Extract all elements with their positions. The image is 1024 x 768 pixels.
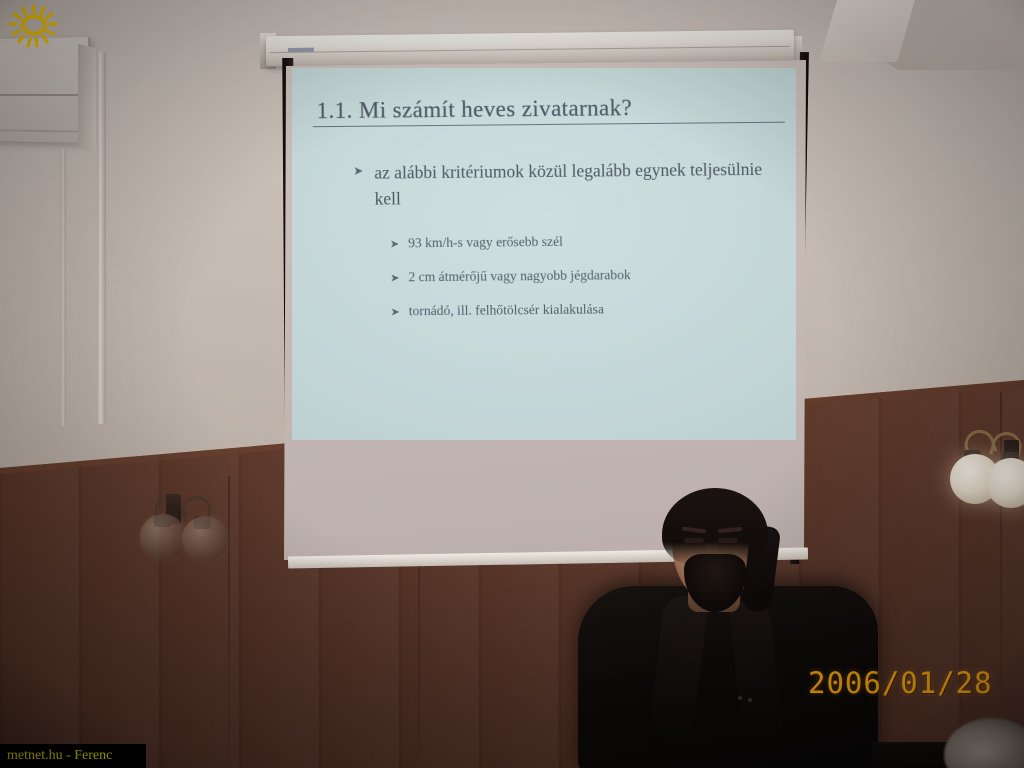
- bullet-arrow-icon: ➤: [390, 302, 399, 323]
- jacket-button: [738, 696, 742, 700]
- projected-image-area: 1.1. Mi számít heves zivatarnak? ➤ az al…: [292, 68, 796, 440]
- lamp-globe: [140, 514, 186, 560]
- slide-sub-bullet-text: tornádó, ill. felhőtölcsér kialakulása: [409, 300, 604, 323]
- camera-date-stamp: 2006/01/28: [808, 666, 993, 700]
- slide-sub-bullet-text: 2 cm átmérőjű vagy nagyobb jégdarabok: [408, 266, 631, 289]
- slide-main-bullet: ➤ az alábbi kritériumok közül legalább e…: [353, 157, 777, 213]
- air-conditioner-unit: [0, 37, 90, 143]
- lamp-globe: [986, 458, 1024, 508]
- slide-title: 1.1. Mi számít heves zivatarnak?: [308, 94, 776, 124]
- lamp-globe: [182, 516, 228, 562]
- photograph: 1.1. Mi számít heves zivatarnak? ➤ az al…: [0, 0, 1024, 768]
- wall-pipe-secondary: [60, 150, 66, 426]
- slide-sub-bullet-list: ➤ 93 km/h-s vagy erősebb szél ➤ 2 cm átm…: [354, 231, 779, 324]
- bullet-arrow-icon: ➤: [390, 268, 399, 289]
- bullet-arrow-icon: ➤: [353, 161, 364, 213]
- watermark-text: metnet.hu - Ferenc: [7, 748, 112, 764]
- slide-sub-bullet: ➤ 93 km/h-s vagy erősebb szél: [390, 231, 778, 256]
- presenter: [560, 488, 890, 768]
- slide-sub-bullet: ➤ tornádó, ill. felhőtölcsér kialakulása: [390, 298, 778, 323]
- slide-body: ➤ az alábbi kritériumok közül legalább e…: [309, 157, 779, 324]
- presenter-eye: [684, 538, 704, 543]
- watermark: metnet.hu - Ferenc: [0, 744, 146, 768]
- presentation-slide: 1.1. Mi számít heves zivatarnak? ➤ az al…: [290, 66, 798, 443]
- air-conditioner-side: [78, 44, 96, 150]
- slide-sub-bullet: ➤ 2 cm átmérőjű vagy nagyobb jégdarabok: [390, 264, 778, 289]
- slide-main-bullet-text: az alábbi kritériumok közül legalább egy…: [374, 157, 774, 213]
- projection-screen: 1.1. Mi számít heves zivatarnak? ➤ az al…: [284, 60, 808, 560]
- wall-pipe: [97, 52, 106, 424]
- wall-lamp-right: [946, 424, 1024, 508]
- slide-sub-bullet-text: 93 km/h-s vagy erősebb szél: [408, 233, 563, 255]
- presenter-eye: [718, 538, 738, 543]
- jacket-button: [748, 698, 752, 702]
- bullet-arrow-icon: ➤: [390, 234, 399, 255]
- sun-icon: [6, 3, 62, 51]
- case-brand-mark: [288, 48, 314, 52]
- wall-lamp-left: [138, 492, 230, 566]
